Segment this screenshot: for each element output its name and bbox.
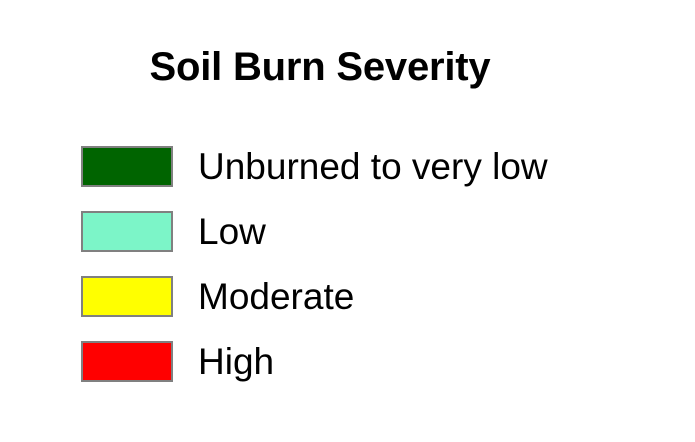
legend-label-high: High xyxy=(198,341,274,382)
legend-item-high: High xyxy=(81,338,681,385)
legend-item-list: Unburned to very low Low Moderate High xyxy=(81,143,681,385)
legend-label-low: Low xyxy=(198,211,266,252)
swatch-moderate xyxy=(81,276,173,317)
legend-label-unburned-to-very-low: Unburned to very low xyxy=(198,146,548,187)
legend-title: Soil Burn Severity xyxy=(0,44,640,90)
swatch-low xyxy=(81,211,173,252)
soil-burn-severity-legend: Soil Burn Severity Unburned to very low … xyxy=(0,0,695,442)
swatch-unburned-to-very-low xyxy=(81,146,173,187)
swatch-high xyxy=(81,341,173,382)
legend-item-low: Low xyxy=(81,208,681,255)
legend-label-moderate: Moderate xyxy=(198,276,354,317)
legend-item-moderate: Moderate xyxy=(81,273,681,320)
legend-item-unburned-to-very-low: Unburned to very low xyxy=(81,143,681,190)
